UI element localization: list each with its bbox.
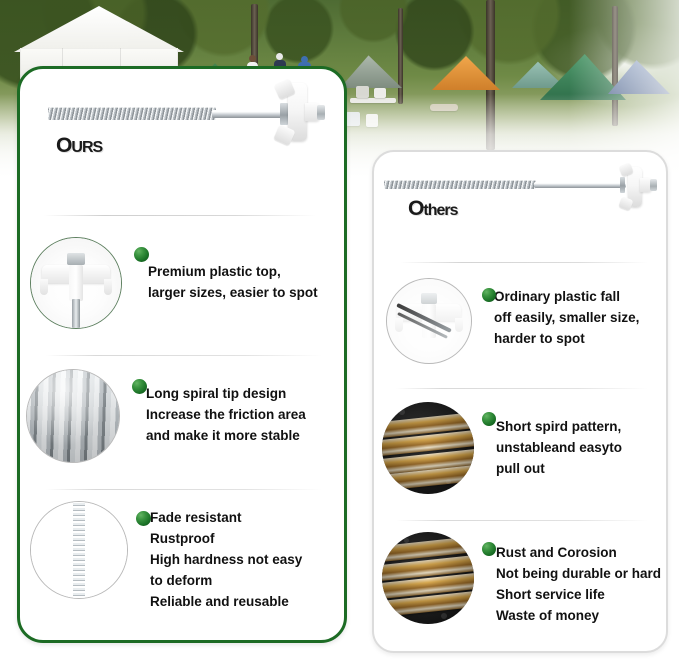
feature-line: Fade resistant <box>150 507 302 528</box>
others-feature-text-2: Short spird pattern, unstableand easyto … <box>496 402 622 479</box>
rust-spot <box>441 613 447 619</box>
rust-band <box>382 465 474 492</box>
rust-band <box>382 411 474 438</box>
art-hook-left <box>40 279 48 294</box>
camper-head <box>276 53 283 60</box>
rust-band <box>382 448 474 475</box>
ours-heading-divider <box>44 215 316 216</box>
plastic-top-closeup-icon <box>30 237 122 329</box>
screw-collar <box>280 103 288 125</box>
others-feature-text-3: Rust and Corosion Not being durable or h… <box>496 532 661 626</box>
feature-line: Increase the friction area <box>146 404 306 425</box>
screw-collar <box>620 177 625 193</box>
others-heading-text: Others <box>408 198 458 219</box>
ours-divider-1 <box>46 355 322 356</box>
plastic-head-nut <box>317 105 325 120</box>
art-hook-right <box>104 279 112 294</box>
chrome-spiral-thread-closeup-icon <box>26 369 120 463</box>
art-nut <box>421 293 438 304</box>
ours-feature-text-2: Long spiral tip design Increase the fric… <box>146 369 306 446</box>
camper-head <box>249 55 256 62</box>
others-feature-text-1: Ordinary plastic fall off easily, smalle… <box>494 278 639 349</box>
rust-band <box>382 554 474 581</box>
feature-line: Long spiral tip design <box>146 383 306 404</box>
ours-feature-text-3: Fade resistant Rustproof High hardness n… <box>150 501 302 612</box>
feature-line: Short service life <box>496 584 661 605</box>
feature-line: larger sizes, easier to spot <box>148 282 318 303</box>
rust-band <box>382 591 474 618</box>
short-spiral-rusty-closeup-icon <box>382 402 474 494</box>
ours-heading: OURS <box>56 135 102 156</box>
ours-divider-2 <box>46 489 322 490</box>
bullet-icon <box>136 511 151 526</box>
feature-line: Reliable and reusable <box>150 591 302 612</box>
full-rod-closeup-icon <box>30 501 128 599</box>
others-divider-2 <box>396 520 648 521</box>
product-comparison-infographic: Others Ordinary plastic fall off easily,… <box>0 0 679 667</box>
others-feature-row-3: Rust and Corosion Not being durable or h… <box>382 532 661 626</box>
rust-band <box>382 430 474 457</box>
rusty-corroded-art <box>382 532 474 624</box>
feature-line: Rust and Corosion <box>496 542 661 563</box>
camper-head <box>301 56 308 63</box>
rust-spot <box>446 479 451 484</box>
ours-heading-text: OURS <box>56 135 102 156</box>
rusted-corroded-thread-closeup-icon <box>382 532 474 624</box>
ours-panel: OURS Premium plastic top, larger sizes, … <box>17 66 347 643</box>
feature-line: Premium plastic top, <box>148 261 318 282</box>
feature-line: Rustproof <box>150 528 302 549</box>
feature-line: Not being durable or hard <box>496 563 661 584</box>
bullet-icon <box>482 412 496 426</box>
art-hook-right <box>455 318 463 332</box>
ordinary-plastic-top-closeup-icon <box>386 278 472 364</box>
art-hook-left <box>395 318 403 332</box>
bullet-icon <box>482 542 496 556</box>
bullet-icon <box>482 288 496 302</box>
feature-line: and make it more stable <box>146 425 306 446</box>
rust-spot <box>404 538 409 543</box>
screw-shaft <box>212 110 286 118</box>
art-nut <box>67 253 85 265</box>
ours-feature-row-3: Fade resistant Rustproof High hardness n… <box>30 501 302 612</box>
others-feature-row-1: Ordinary plastic fall off easily, smalle… <box>386 278 639 364</box>
feature-line: pull out <box>496 458 622 479</box>
bullet-icon <box>132 379 147 394</box>
others-heading: Others <box>408 198 458 219</box>
screw-thread <box>384 180 536 189</box>
rusty-thread-art <box>382 402 474 494</box>
others-divider-1 <box>396 388 648 389</box>
feature-line: harder to spot <box>494 328 639 349</box>
chrome-spiral-art <box>27 370 119 462</box>
ours-feature-row-1: Premium plastic top, larger sizes, easie… <box>30 237 318 329</box>
feature-line: off easily, smaller size, <box>494 307 639 328</box>
feature-line: Ordinary plastic fall <box>494 286 639 307</box>
rust-spot <box>399 409 405 415</box>
ours-feature-text-1: Premium plastic top, larger sizes, easie… <box>148 237 318 303</box>
others-panel: Others Ordinary plastic fall off easily,… <box>372 150 668 653</box>
plastic-top-art <box>31 238 121 328</box>
art-threaded-rod <box>73 502 85 598</box>
tree-trunk <box>398 8 403 104</box>
art-rod <box>72 299 79 328</box>
feature-line: High hardness not easy <box>150 549 302 570</box>
feature-line: to deform <box>150 570 302 591</box>
screw-shaft <box>534 182 626 188</box>
plastic-head-nut <box>650 179 657 191</box>
others-heading-divider <box>400 262 648 263</box>
others-feature-row-2: Short spird pattern, unstableand easyto … <box>382 402 622 494</box>
ours-feature-row-2: Long spiral tip design Increase the fric… <box>26 369 306 463</box>
bullet-icon <box>134 247 149 262</box>
feature-line: Short spird pattern, <box>496 416 622 437</box>
feature-line: Waste of money <box>496 605 661 626</box>
rust-band <box>382 572 474 599</box>
screw-thread <box>48 107 216 120</box>
rod-closeup-art <box>31 502 127 598</box>
feature-line: unstableand easyto <box>496 437 622 458</box>
art-stem <box>69 265 83 301</box>
rust-band <box>382 536 474 563</box>
